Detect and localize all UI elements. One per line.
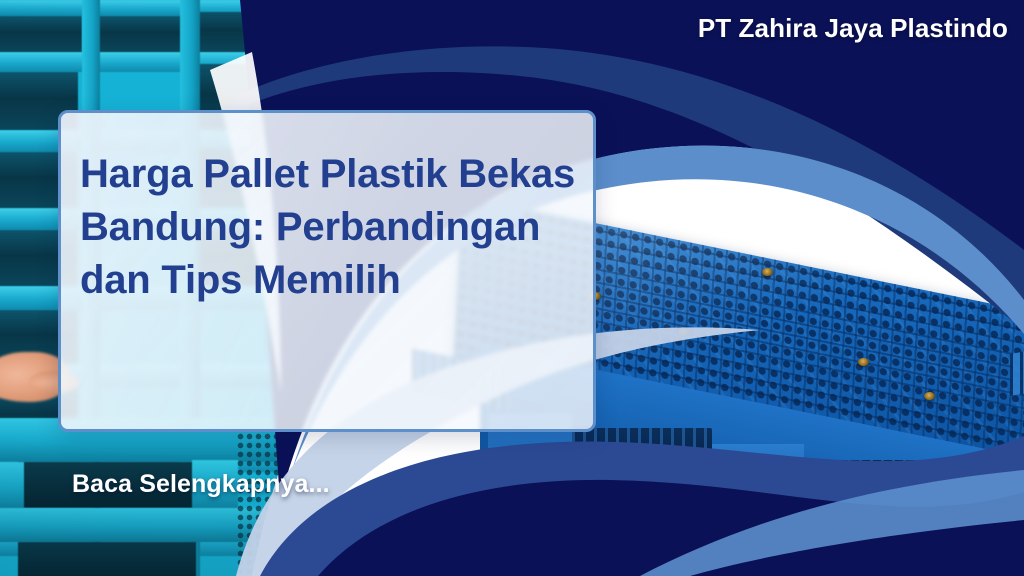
pallet-rivet xyxy=(924,392,935,400)
pallet-rivet xyxy=(678,328,689,336)
title-card: Harga Pallet Plastik Bekas Bandung: Perb… xyxy=(58,110,596,432)
pallet-rivet xyxy=(762,268,773,276)
pallet-fork-opening xyxy=(572,428,712,512)
read-more-link[interactable]: Baca Selengkapnya... xyxy=(72,470,330,499)
pallet-foot xyxy=(930,472,1016,534)
company-name: PT Zahira Jaya Plastindo xyxy=(698,13,1008,44)
promo-banner: Harga Pallet Plastik Bekas Bandung: Perb… xyxy=(0,0,1024,576)
pallet-fork-opening xyxy=(804,460,930,530)
pallet-rivet xyxy=(858,358,869,366)
page-title: Harga Pallet Plastik Bekas Bandung: Perb… xyxy=(80,148,581,306)
pallet-foot xyxy=(712,444,804,530)
